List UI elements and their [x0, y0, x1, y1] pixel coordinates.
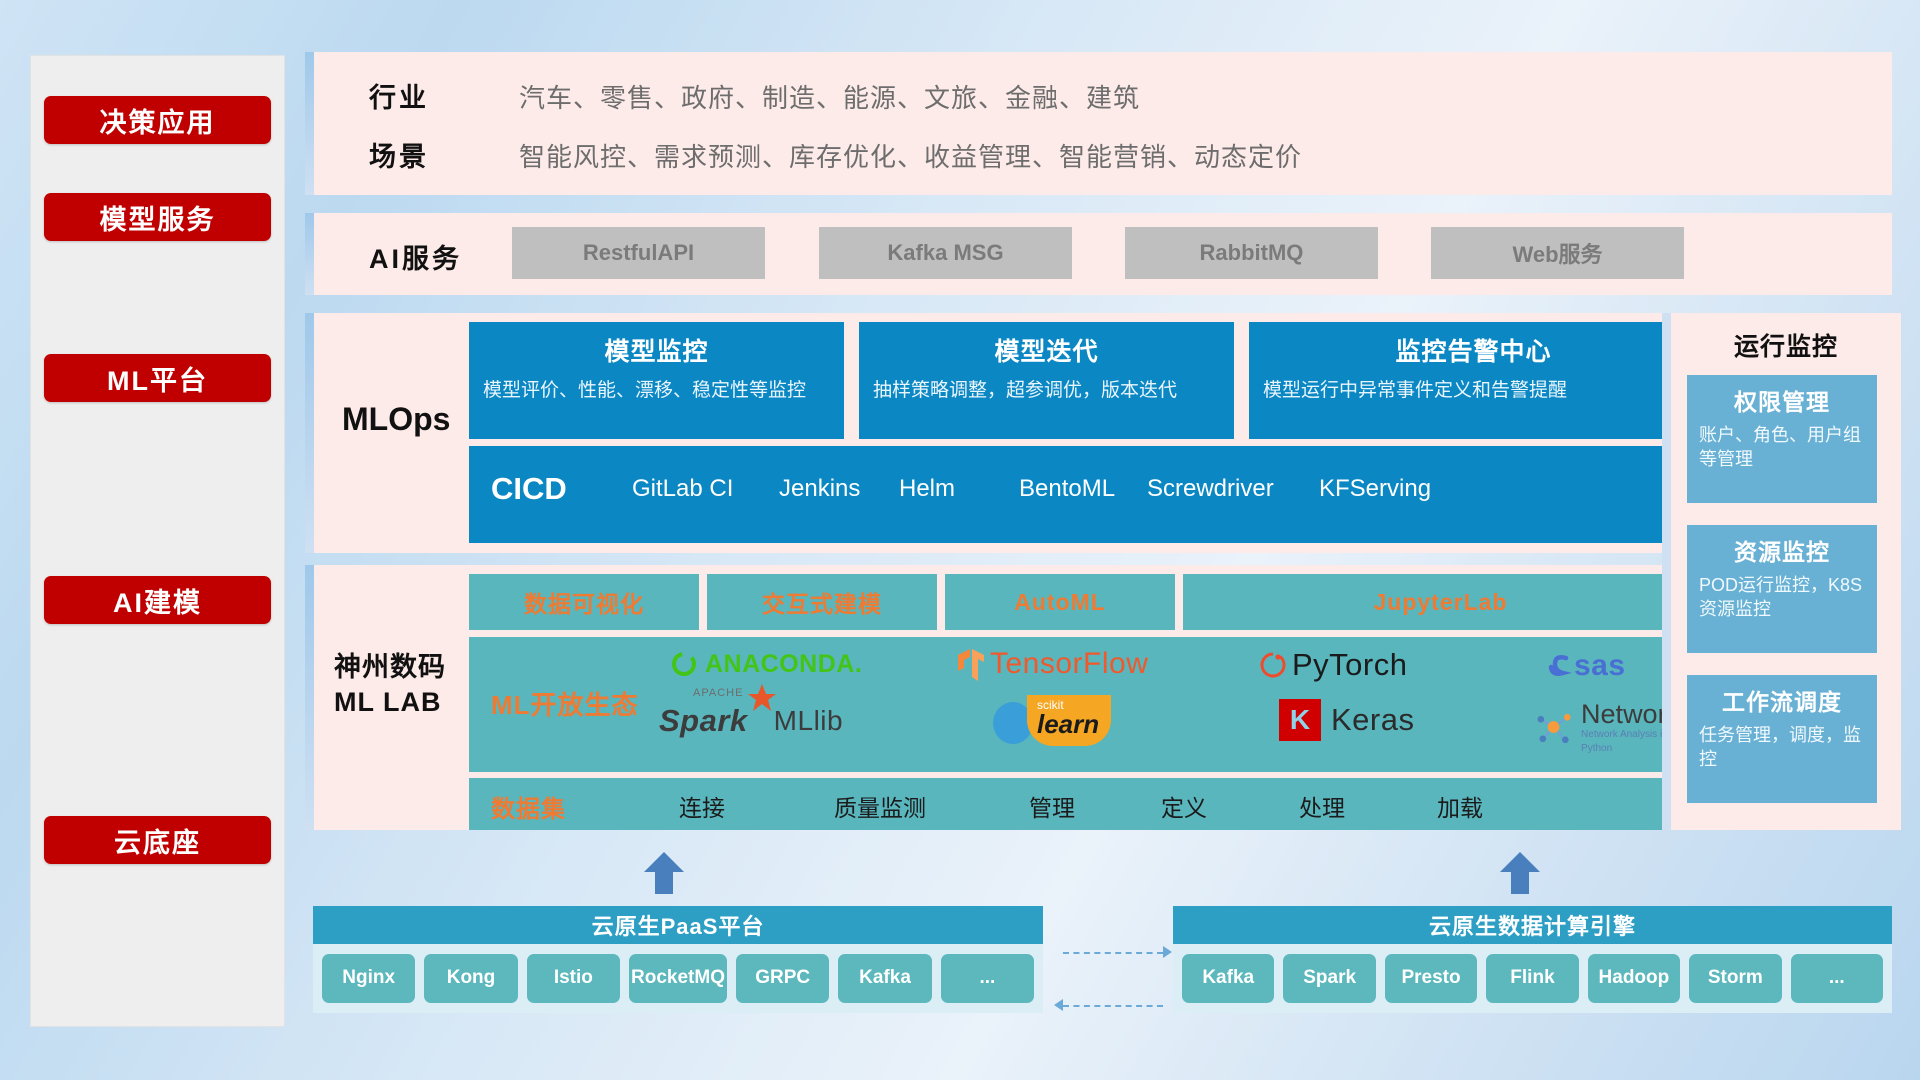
layer-chip-model-service[interactable]: 模型服务: [44, 193, 271, 241]
connector-right: [1063, 952, 1163, 954]
dataset-item-processing[interactable]: 处理: [1299, 789, 1345, 823]
chip-hadoop[interactable]: Hadoop: [1588, 954, 1680, 1003]
monitor-card-title: 工作流调度: [1699, 683, 1865, 717]
chip-more2[interactable]: ...: [1791, 954, 1883, 1003]
service-box-kafka-msg[interactable]: Kafka MSG: [819, 227, 1072, 279]
monitor-card-desc: POD运行监控，K8S资源监控: [1699, 573, 1865, 622]
cloud-data-engine-chips: Kafka Spark Presto Flink Hadoop Storm ..…: [1173, 944, 1892, 1013]
mlops-card-title: 监控告警中心: [1263, 332, 1684, 368]
cicd-item-helm[interactable]: Helm: [899, 474, 1017, 503]
ai-service-label: AI服务: [369, 237, 462, 276]
tensorflow-logo: TensorFlow: [954, 647, 1148, 681]
anaconda-logo-text: ANACONDA.: [705, 650, 862, 679]
dataset-item-loading[interactable]: 加载: [1437, 789, 1483, 823]
cicd-item-screwdriver[interactable]: Screwdriver: [1147, 474, 1265, 503]
monitor-card-title: 权限管理: [1699, 383, 1865, 417]
tool-box-interactive-modeling[interactable]: 交互式建模: [707, 574, 937, 630]
layer-rail: 决策应用 模型服务 ML平台 AI建模 云底座: [30, 55, 285, 1027]
paas-up-arrow: [644, 852, 684, 894]
cicd-item-kfserving[interactable]: KFServing: [1319, 474, 1437, 503]
ml-ecosystem-bar: ML开放生态 ANACONDA. TensorFlow: [469, 637, 1698, 772]
mlops-card-desc: 抽样策略调整，超参调优，版本迭代: [873, 378, 1220, 404]
spark-logo-suffix: MLlib: [774, 705, 843, 737]
chip-kafka[interactable]: Kafka: [838, 954, 931, 1003]
cloud-data-engine-stack: 云原生数据计算引擎 Kafka Spark Presto Flink Hadoo…: [1173, 906, 1892, 1013]
architecture-diagram: 决策应用 模型服务 ML平台 AI建模 云底座 行业 汽车、零售、政府、制造、能…: [0, 0, 1920, 1080]
sas-logo: sas: [1544, 649, 1626, 683]
service-box-web-service[interactable]: Web服务: [1431, 227, 1684, 279]
cicd-item-gitlab-ci[interactable]: GitLab CI: [632, 474, 750, 503]
ml-platform-band: MLOps 模型监控 模型评价、性能、漂移、稳定性等监控 模型迭代 抽样策略调整…: [305, 313, 1698, 553]
scenario-text: 智能风控、需求预测、库存优化、收益管理、智能营销、动态定价: [519, 137, 1302, 174]
keras-logo: K Keras: [1279, 699, 1414, 741]
cicd-item-bentoml[interactable]: BentoML: [1019, 474, 1137, 503]
cloud-paas-stack: 云原生PaaS平台 Nginx Kong Istio RocketMQ GRPC…: [313, 906, 1043, 1013]
keras-logo-text: Keras: [1331, 702, 1414, 738]
connector-left-arrow: [1054, 999, 1063, 1011]
tool-box-jupyterlab[interactable]: JupyterLab: [1183, 574, 1698, 630]
mlops-card-desc: 模型评价、性能、漂移、稳定性等监控: [483, 378, 830, 404]
ml-lab-label-line1: 神州数码: [334, 650, 446, 685]
cloud-paas-chips: Nginx Kong Istio RocketMQ GRPC Kafka ...: [313, 944, 1043, 1013]
mlops-card-model-iteration[interactable]: 模型迭代 抽样策略调整，超参调优，版本迭代: [859, 322, 1234, 439]
tensorflow-logo-text: TensorFlow: [990, 647, 1148, 681]
cloud-data-engine-title: 云原生数据计算引擎: [1173, 906, 1892, 944]
ai-modeling-band: 神州数码 ML LAB 数据可视化 交互式建模 AutoML JupyterLa…: [305, 565, 1698, 830]
chip-spark[interactable]: Spark: [1283, 954, 1375, 1003]
spark-logo-text: Spark: [659, 703, 748, 738]
chip-flink[interactable]: Flink: [1486, 954, 1578, 1003]
service-box-rabbitmq[interactable]: RabbitMQ: [1125, 227, 1378, 279]
layer-chip-ml-platform[interactable]: ML平台: [44, 354, 271, 402]
scenario-label: 场景: [369, 135, 429, 174]
monitor-card-title: 资源监控: [1699, 533, 1865, 567]
monitor-card-desc: 账户、角色、用户组等管理: [1699, 423, 1865, 472]
pytorch-logo: PyTorch: [1259, 647, 1407, 683]
dataset-item-connect[interactable]: 连接: [679, 789, 725, 823]
mlops-label: MLOps: [342, 401, 450, 438]
mlops-card-desc: 模型运行中异常事件定义和告警提醒: [1263, 378, 1684, 404]
spark-mllib-logo: APACHE Spark MLlib: [659, 703, 843, 739]
chip-grpc[interactable]: GRPC: [736, 954, 829, 1003]
runtime-monitor-title: 运行监控: [1671, 327, 1901, 363]
service-box-restfulapi[interactable]: RestfulAPI: [512, 227, 765, 279]
dataset-item-management[interactable]: 管理: [1029, 789, 1075, 823]
chip-presto[interactable]: Presto: [1385, 954, 1477, 1003]
layer-chip-ai-modeling[interactable]: AI建模: [44, 576, 271, 624]
dataset-item-definition[interactable]: 定义: [1161, 789, 1207, 823]
pytorch-mark: [1259, 649, 1287, 681]
chip-more[interactable]: ...: [941, 954, 1034, 1003]
monitor-card-permission[interactable]: 权限管理 账户、角色、用户组等管理: [1687, 375, 1877, 503]
sas-mark: [1544, 651, 1574, 681]
networkx-mark: [1534, 709, 1577, 749]
keras-mark: K: [1279, 699, 1321, 741]
industry-label: 行业: [369, 76, 429, 115]
dataset-item-quality-monitoring[interactable]: 质量监测: [834, 789, 926, 823]
dataset-label: 数据集: [491, 789, 566, 824]
sas-logo-text: sas: [1574, 649, 1626, 683]
industry-text: 汽车、零售、政府、制造、能源、文旅、金融、建筑: [519, 78, 1140, 115]
cicd-item-jenkins[interactable]: Jenkins: [779, 474, 897, 503]
ml-ecosystem-label: ML开放生态: [491, 685, 639, 722]
chip-istio[interactable]: Istio: [527, 954, 620, 1003]
tool-box-automl[interactable]: AutoML: [945, 574, 1175, 630]
data-engine-up-arrow: [1500, 852, 1540, 894]
cicd-title: CICD: [491, 471, 567, 507]
runtime-monitor-panel: 运行监控 权限管理 账户、角色、用户组等管理 资源监控 POD运行监控，K8S资…: [1662, 313, 1901, 830]
scikit-logo-text: learn: [1037, 711, 1099, 738]
tool-box-data-visualization[interactable]: 数据可视化: [469, 574, 699, 630]
anaconda-mark: [669, 649, 699, 679]
spark-star-icon: [747, 683, 777, 713]
ml-lab-label: 神州数码 ML LAB: [334, 650, 446, 719]
monitor-card-resource[interactable]: 资源监控 POD运行监控，K8S资源监控: [1687, 525, 1877, 653]
mlops-card-title: 模型迭代: [873, 332, 1220, 368]
layer-chip-cloud-base[interactable]: 云底座: [44, 816, 271, 864]
connector-right-arrow: [1163, 946, 1172, 958]
scikit-learn-logo: scikit learn: [989, 695, 1111, 746]
connector-left: [1063, 1005, 1163, 1007]
chip-storm[interactable]: Storm: [1689, 954, 1781, 1003]
monitor-card-desc: 任务管理，调度，监控: [1699, 723, 1865, 772]
chip-kong[interactable]: Kong: [424, 954, 517, 1003]
spark-logo-sub: APACHE: [693, 687, 743, 699]
monitor-card-workflow[interactable]: 工作流调度 任务管理，调度，监控: [1687, 675, 1877, 803]
mlops-card-alert-center[interactable]: 监控告警中心 模型运行中异常事件定义和告警提醒: [1249, 322, 1698, 439]
mlops-card-title: 模型监控: [483, 332, 830, 368]
layer-chip-decision-app[interactable]: 决策应用: [44, 96, 271, 144]
anaconda-logo: ANACONDA.: [669, 649, 862, 679]
chip-kafka2[interactable]: Kafka: [1182, 954, 1274, 1003]
tensorflow-mark: [954, 647, 986, 681]
pytorch-logo-text: PyTorch: [1292, 647, 1407, 683]
ml-lab-label-line2: ML LAB: [334, 685, 446, 720]
cloud-paas-title: 云原生PaaS平台: [313, 906, 1043, 944]
model-service-band: AI服务 RestfulAPI Kafka MSG RabbitMQ Web服务: [305, 213, 1892, 295]
dataset-bar: 数据集 连接 质量监测 管理 定义 处理 加载: [469, 778, 1698, 830]
mlops-card-model-monitoring[interactable]: 模型监控 模型评价、性能、漂移、稳定性等监控: [469, 322, 844, 439]
decision-app-band: 行业 汽车、零售、政府、制造、能源、文旅、金融、建筑 场景 智能风控、需求预测、…: [305, 52, 1892, 195]
chip-nginx[interactable]: Nginx: [322, 954, 415, 1003]
cicd-bar: CICD GitLab CI Jenkins Helm BentoML Scre…: [469, 446, 1698, 543]
chip-rocketmq[interactable]: RocketMQ: [629, 954, 727, 1003]
